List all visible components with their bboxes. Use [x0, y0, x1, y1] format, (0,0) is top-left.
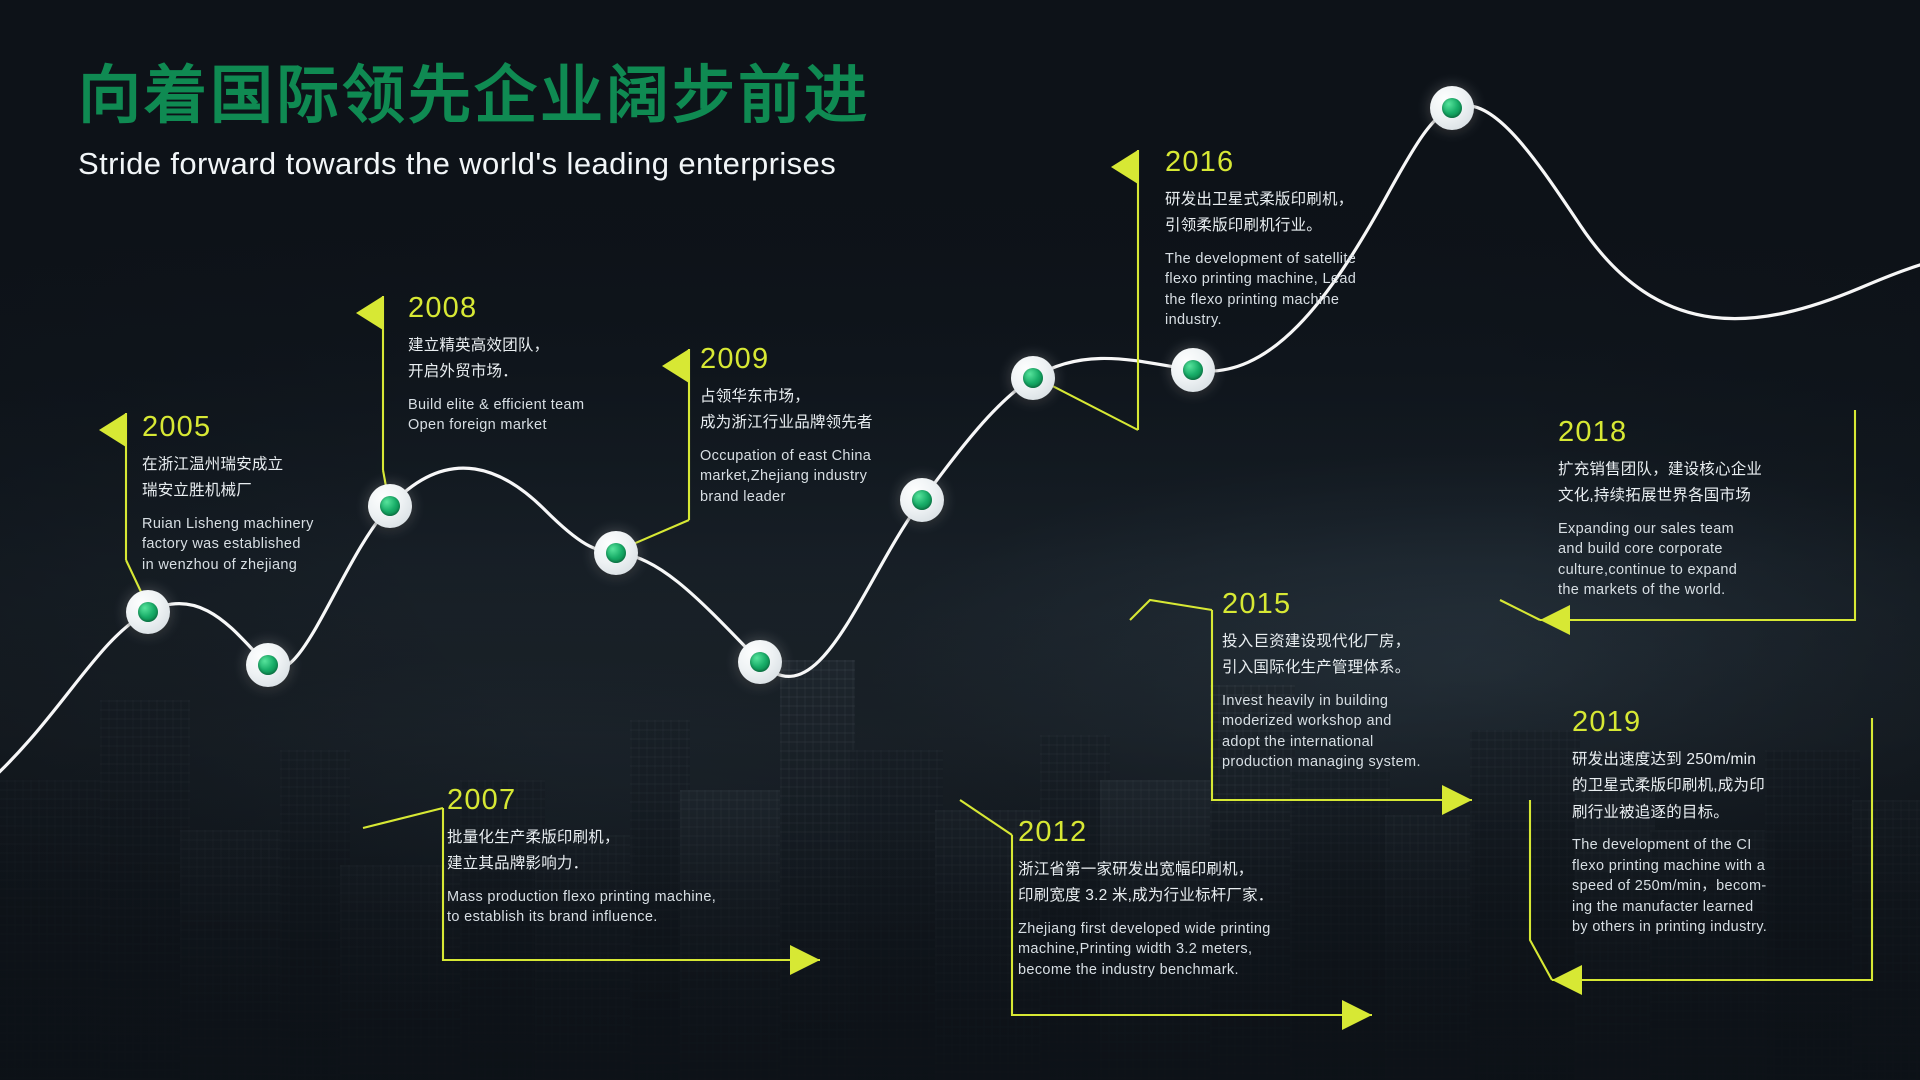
milestone-node-2007[interactable] — [246, 643, 290, 687]
milestone-year: 2016 — [1165, 148, 1420, 177]
milestone-text-en: Occupation of east China market,Zhejiang… — [700, 446, 940, 508]
milestone-callout-2019[interactable]: 2019 研发出速度达到 250m/min 的卫星式柔版印刷机,成为印 刷行业被… — [1572, 708, 1842, 938]
milestone-text-cn: 占领华东市场， 成为浙江行业品牌领先者 — [700, 384, 940, 437]
milestone-text-cn: 批量化生产柔版印刷机， 建立其品牌影响力． — [447, 825, 827, 878]
milestone-year: 2009 — [700, 345, 940, 374]
milestone-callout-2007[interactable]: 2007 批量化生产柔版印刷机， 建立其品牌影响力． Mass producti… — [447, 786, 827, 928]
milestone-text-cn: 在浙江温州瑞安成立 瑞安立胜机械厂 — [142, 452, 382, 505]
milestone-text-en: Ruian Lisheng machinery factory was esta… — [142, 514, 382, 576]
milestone-text-en: Zhejiang first developed wide printing m… — [1018, 919, 1363, 981]
milestone-year: 2012 — [1018, 818, 1363, 847]
milestone-text-cn: 研发出卫星式柔版印刷机， 引领柔版印刷机行业。 — [1165, 187, 1420, 240]
node-dot — [606, 543, 626, 563]
milestone-node-2019[interactable] — [1430, 86, 1474, 130]
milestone-node-2009[interactable] — [594, 531, 638, 575]
milestone-text-en: Build elite & efficient team Open foreig… — [408, 395, 673, 436]
milestone-node-2012[interactable] — [738, 640, 782, 684]
milestone-node-2018[interactable] — [1171, 348, 1215, 392]
timeline-infographic: 向着国际领先企业阔步前进 Stride forward towards the … — [0, 0, 1920, 1080]
milestone-callout-2016[interactable]: 2016 研发出卫星式柔版印刷机， 引领柔版印刷机行业。 The develop… — [1165, 148, 1420, 331]
milestone-text-en: Expanding our sales team and build core … — [1558, 519, 1823, 601]
milestone-callout-2008[interactable]: 2008 建立精英高效团队， 开启外贸市场． Build elite & eff… — [408, 294, 673, 436]
milestone-text-cn: 研发出速度达到 250m/min 的卫星式柔版印刷机,成为印 刷行业被追逐的目标… — [1572, 747, 1842, 826]
milestone-text-cn: 建立精英高效团队， 开启外贸市场． — [408, 333, 673, 386]
milestone-text-en: Mass production flexo printing machine, … — [447, 887, 827, 928]
node-dot — [258, 655, 278, 675]
milestone-node-2016[interactable] — [1011, 356, 1055, 400]
milestone-year: 2008 — [408, 294, 673, 323]
milestone-callout-2009[interactable]: 2009 占领华东市场， 成为浙江行业品牌领先者 Occupation of e… — [700, 345, 940, 507]
node-dot — [1183, 360, 1203, 380]
milestone-text-en: Invest heavily in building moderized wor… — [1222, 691, 1487, 773]
node-dot — [750, 652, 770, 672]
milestone-year: 2018 — [1558, 418, 1823, 447]
node-dot — [138, 602, 158, 622]
milestone-text-en: The development of the CI flexo printing… — [1572, 835, 1842, 938]
milestone-text-cn: 浙江省第一家研发出宽幅印刷机， 印刷宽度 3.2 米,成为行业标杆厂家． — [1018, 857, 1363, 910]
node-dot — [380, 496, 400, 516]
milestone-year: 2007 — [447, 786, 827, 815]
milestone-callout-2005[interactable]: 2005 在浙江温州瑞安成立 瑞安立胜机械厂 Ruian Lisheng mac… — [142, 413, 382, 575]
milestone-text-cn: 扩充销售团队，建设核心企业 文化,持续拓展世界各国市场 — [1558, 457, 1823, 510]
milestone-callout-2018[interactable]: 2018 扩充销售团队，建设核心企业 文化,持续拓展世界各国市场 Expandi… — [1558, 418, 1823, 601]
milestone-text-cn: 投入巨资建设现代化厂房， 引入国际化生产管理体系。 — [1222, 629, 1487, 682]
node-dot — [1023, 368, 1043, 388]
milestone-callout-2012[interactable]: 2012 浙江省第一家研发出宽幅印刷机， 印刷宽度 3.2 米,成为行业标杆厂家… — [1018, 818, 1363, 980]
node-dot — [1442, 98, 1462, 118]
milestone-year: 2015 — [1222, 590, 1487, 619]
milestone-year: 2005 — [142, 413, 382, 442]
milestone-text-en: The development of satellite flexo print… — [1165, 249, 1420, 331]
milestone-node-2005[interactable] — [126, 590, 170, 634]
milestone-callout-2015[interactable]: 2015 投入巨资建设现代化厂房， 引入国际化生产管理体系。 Invest he… — [1222, 590, 1487, 773]
milestone-year: 2019 — [1572, 708, 1842, 737]
